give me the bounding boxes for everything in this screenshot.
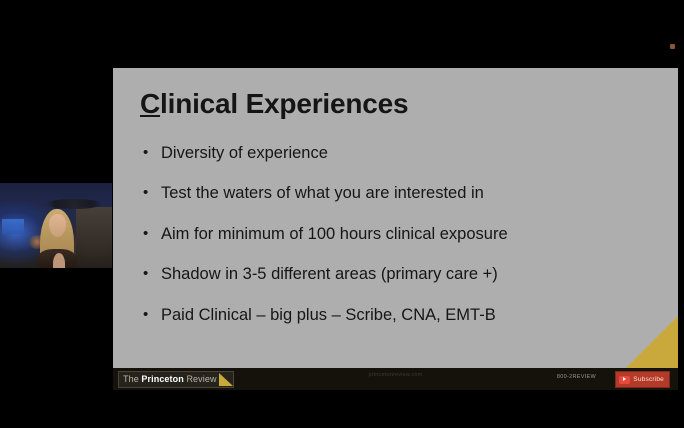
bullet-item: • Test the waters of what you are intere… <box>143 184 648 203</box>
bullet-text: Paid Clinical – big plus – Scribe, CNA, … <box>161 306 648 325</box>
webcam-wall <box>76 207 112 268</box>
screen-share-stage: Clinical Experiences • Diversity of expe… <box>0 0 684 428</box>
slide-footer-bar: The Princeton Review princetonreview.com… <box>113 368 678 390</box>
bullet-marker-icon: • <box>143 184 161 201</box>
presentation-slide[interactable]: Clinical Experiences • Diversity of expe… <box>113 68 678 390</box>
bullet-text: Test the waters of what you are interest… <box>161 184 648 203</box>
webcam-person-chest <box>53 253 65 268</box>
bullet-marker-icon: • <box>143 306 161 323</box>
youtube-subscribe-button[interactable]: Subscribe <box>615 371 670 388</box>
bullet-item: • Paid Clinical – big plus – Scribe, CNA… <box>143 306 648 325</box>
footer-phone-number: 800-2REVIEW <box>557 374 596 380</box>
bullet-marker-icon: • <box>143 265 161 282</box>
ceiling-fan-icon <box>46 199 102 209</box>
webcam-window <box>2 219 24 234</box>
webcam-self-view[interactable] <box>0 183 112 268</box>
bullet-marker-icon: • <box>143 144 161 161</box>
slide-title-underlined-initial: C <box>140 88 160 119</box>
slide-content-area: Clinical Experiences • Diversity of expe… <box>113 68 678 368</box>
slide-bullet-list: • Diversity of experience • Test the wat… <box>143 144 648 346</box>
slide-title: Clinical Experiences <box>140 88 408 120</box>
subscribe-button-label: Subscribe <box>633 376 664 383</box>
youtube-icon <box>619 376 630 384</box>
bullet-text: Diversity of experience <box>161 144 648 163</box>
bullet-item: • Diversity of experience <box>143 144 648 163</box>
slide-title-remainder: linical Experiences <box>160 88 408 119</box>
bullet-text: Aim for minimum of 100 hours clinical ex… <box>161 225 648 244</box>
bullet-text: Shadow in 3-5 different areas (primary c… <box>161 265 648 284</box>
bullet-item: • Aim for minimum of 100 hours clinical … <box>143 225 648 244</box>
recording-indicator-dot <box>670 44 675 49</box>
bullet-item: • Shadow in 3-5 different areas (primary… <box>143 265 648 284</box>
bullet-marker-icon: • <box>143 225 161 242</box>
